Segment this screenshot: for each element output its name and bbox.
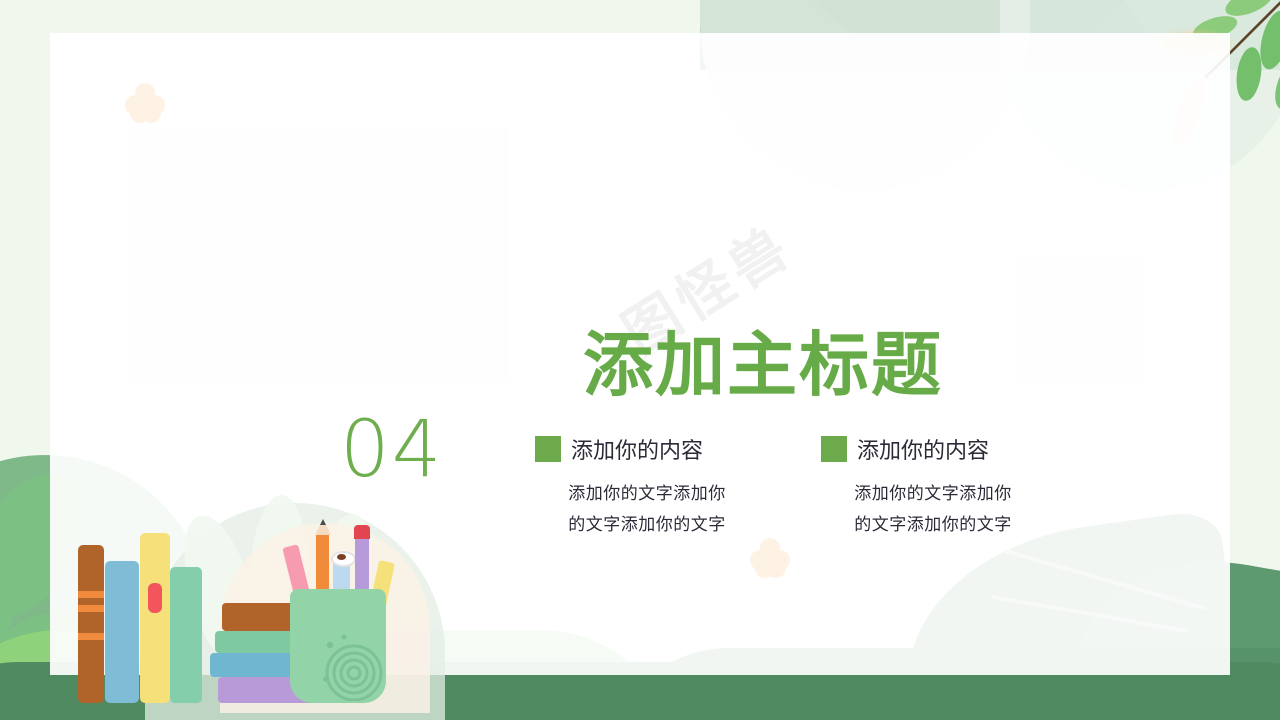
book-stripe-1 <box>78 591 104 598</box>
pencil-tip-icon <box>313 519 333 537</box>
content-column-1: 添加你的内容 添加你的文字添加你 的文字添加你的文字 <box>535 433 759 542</box>
section-number: 04 <box>340 411 443 489</box>
standing-book-blue <box>105 561 139 703</box>
book-label-red <box>148 583 162 613</box>
column-1-header: 添加你的内容 <box>535 433 759 465</box>
standing-book-yellow <box>140 533 170 703</box>
book-stripe-2 <box>78 605 104 612</box>
column-1-heading: 添加你的内容 <box>571 433 703 465</box>
cup-swirl-icon <box>318 631 388 701</box>
column-2-body-line-1: 添加你的文字添加你 <box>827 479 1039 510</box>
content-column-2: 添加你的内容 添加你的文字添加你 的文字添加你的文字 <box>821 433 1045 542</box>
peach-flower-icon-2 <box>750 538 790 576</box>
column-2-header: 添加你的内容 <box>821 433 1045 465</box>
page-title: 添加主标题 <box>583 329 943 403</box>
column-1-body-line-2: 的文字添加你的文字 <box>541 510 753 541</box>
book-stripe-3 <box>78 633 104 640</box>
column-1-body-line-1: 添加你的文字添加你 <box>541 479 753 510</box>
standing-book-green <box>170 567 202 703</box>
pencil-eraser-red <box>354 525 370 539</box>
columns-container: 添加你的内容 添加你的文字添加你 的文字添加你的文字 添加你的内容 添加你的文字… <box>535 433 1045 542</box>
peach-flower-icon-1 <box>125 83 165 121</box>
column-2-body: 添加你的文字添加你 的文字添加你的文字 <box>821 479 1045 542</box>
column-2-heading: 添加你的内容 <box>857 433 989 465</box>
bullet-square-icon-2 <box>821 436 847 462</box>
column-1-body: 添加你的文字添加你 的文字添加你的文字 <box>535 479 759 542</box>
tube-hole-icon <box>337 554 346 560</box>
slide-canvas: 图怪兽 04 添加主标题 添加你的内容 添加你的文字添加你 的文字添加你的文字 … <box>0 0 1280 720</box>
bullet-square-icon-1 <box>535 436 561 462</box>
standing-book-brown <box>78 545 104 703</box>
column-2-body-line-2: 的文字添加你的文字 <box>827 510 1039 541</box>
content-panel: 图怪兽 04 添加主标题 添加你的内容 添加你的文字添加你 的文字添加你的文字 … <box>50 33 1230 675</box>
